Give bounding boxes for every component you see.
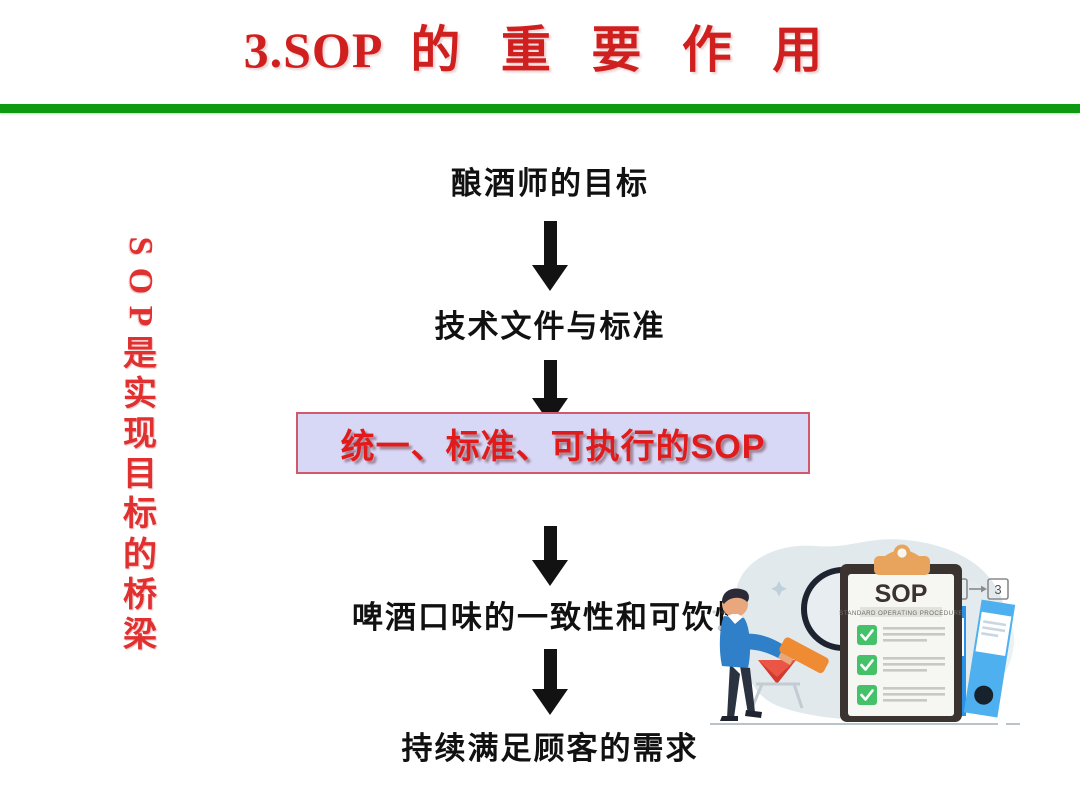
process-step-label-3: 3 bbox=[994, 582, 1001, 597]
flow-step-3: 统一、标准、可执行的SOP bbox=[341, 419, 766, 468]
arrow-head bbox=[532, 689, 568, 715]
page-title-number: 3.SOP bbox=[244, 22, 384, 78]
slogan-char: 标 bbox=[112, 494, 168, 534]
slogan-char: 目 bbox=[112, 454, 168, 494]
highlight-callout-box: 统一、标准、可执行的SOP bbox=[296, 412, 810, 474]
arrow-shaft bbox=[544, 649, 557, 689]
arrow-shaft bbox=[544, 221, 557, 265]
slogan-char: 桥 bbox=[112, 575, 168, 615]
flow-step-2: 技术文件与标准 bbox=[240, 301, 860, 346]
slide-canvas: 3.SOP 的 重 要 作 用 S O P 是 实 现 目 标 的 桥 梁 酿酒… bbox=[0, 0, 1080, 810]
slide-title-block: 3.SOP 的 重 要 作 用 bbox=[0, 24, 1080, 77]
flow-arrow-down-icon bbox=[240, 203, 860, 301]
slogan-char: 梁 bbox=[112, 615, 168, 655]
page-title: 3.SOP 的 重 要 作 用 bbox=[244, 24, 837, 77]
slogan-char: 的 bbox=[112, 535, 168, 575]
flow-step-1: 酿酒师的目标 bbox=[240, 158, 860, 203]
slogan-char: P bbox=[123, 288, 157, 344]
sop-illustration: 1 2 3 bbox=[700, 532, 1040, 747]
slogan-char: 现 bbox=[112, 414, 168, 454]
arrow-head bbox=[532, 560, 568, 586]
title-divider-rule bbox=[0, 104, 1080, 113]
clipboard-subtitle: STANDARD OPERATING PROCEDURE bbox=[839, 610, 963, 617]
arrow-shaft bbox=[544, 526, 557, 560]
page-title-chinese: 的 重 要 作 用 bbox=[410, 22, 836, 78]
arrow-shaft bbox=[544, 360, 557, 398]
slogan-char: 实 bbox=[112, 374, 168, 414]
clipboard-title: SOP bbox=[875, 580, 928, 608]
clipboard: SOP STANDARD OPERATING PROCEDURE bbox=[839, 545, 963, 723]
arrow-head bbox=[532, 265, 568, 291]
vertical-slogan: S O P 是 实 现 目 标 的 桥 梁 bbox=[112, 228, 168, 655]
